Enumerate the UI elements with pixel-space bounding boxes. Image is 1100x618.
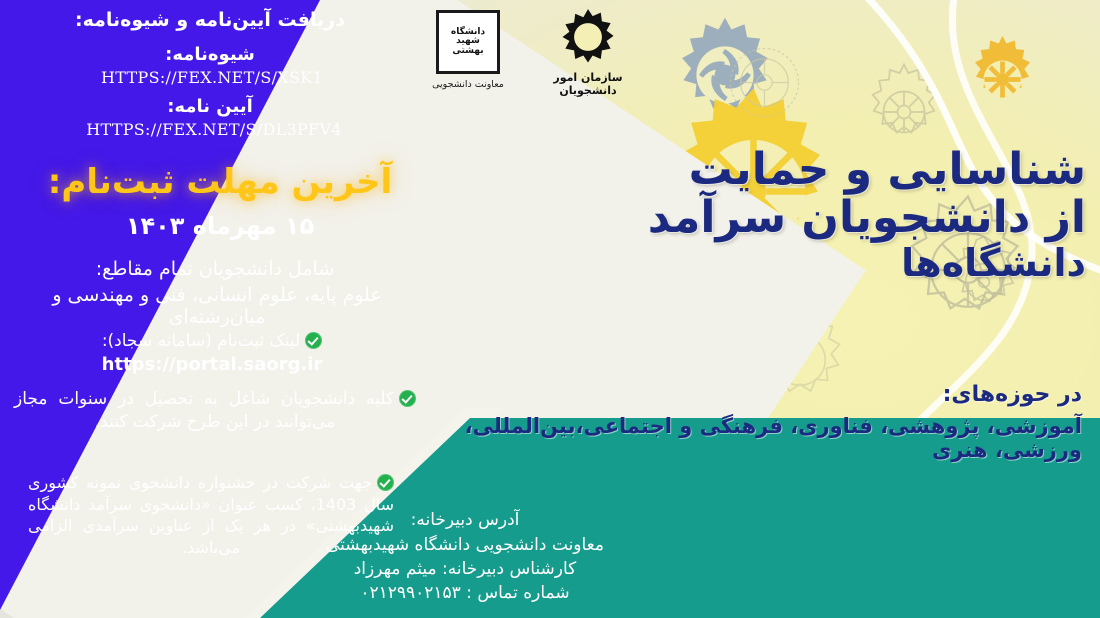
- sbu-logo-mark-text: دانشگاه شهید بهشتی: [443, 17, 493, 67]
- bullet-1-text: لینک ثبت‌نام (سامانه سجاد):: [102, 331, 300, 351]
- sbu-logo: دانشگاه شهید بهشتی معاونت دانشجویی: [432, 10, 504, 90]
- check-circle-icon: [377, 474, 394, 491]
- sbu-logo-mark: دانشگاه شهید بهشتی: [436, 10, 500, 74]
- bullet-registration-link: لینک ثبت‌نام (سامانه سجاد):: [14, 330, 410, 353]
- sao-logo-mark: [557, 8, 619, 66]
- secretariat-line-2: کارشناس دبیرخانه: میثم مهرزاد: [300, 557, 630, 581]
- deadline-date: ۱۵ مهرماه ۱۴۰۳: [20, 212, 420, 240]
- domains-list: آموزشی، پژوهشی، فناوری، فرهنگی و اجتماعی…: [462, 414, 1082, 462]
- sao-caption-line2: دانشجویان: [524, 85, 652, 98]
- domains-label: در حوزه‌های:: [562, 382, 1082, 407]
- check-circle-icon: [305, 332, 322, 349]
- scope-title: شامل دانشجویان تمام مقاطع:: [18, 258, 412, 280]
- sao-caption-line1: سازمان امور: [524, 72, 652, 85]
- registration-portal-link[interactable]: https://portal.saorg.ir: [14, 354, 410, 375]
- sao-logo: سازمان امور دانشجویان: [524, 8, 652, 97]
- title-line-3: دانشگاه‌ها: [566, 243, 1086, 284]
- gear-outline-icon: [722, 40, 807, 125]
- scope-body: علوم پایه، علوم انسانی، فنی و مهندسی و م…: [16, 284, 418, 328]
- secretariat-title: آدرس دبیرخانه:: [300, 508, 630, 532]
- secretariat-block: آدرس دبیرخانه: معاونت دانشجویی دانشگاه ش…: [300, 508, 630, 606]
- secretariat-line-1: معاونت دانشجویی دانشگاه شهیدبهشتی: [300, 533, 630, 557]
- title-line-2: از دانشجویان سرآمد: [566, 194, 1086, 242]
- poster-canvas: دانشگاه شهید بهشتی معاونت دانشجویی سازما…: [0, 0, 1100, 618]
- sao-logo-caption: سازمان امور دانشجویان: [524, 72, 652, 97]
- logo-group: دانشگاه شهید بهشتی معاونت دانشجویی سازما…: [428, 6, 658, 118]
- title-line-1: شناسایی و حمایت: [566, 146, 1086, 194]
- method-url-link[interactable]: HTTPS://FEX.NET/S/XSK1: [14, 68, 410, 87]
- bullet-2-text: کلیه دانشجویان شاغل به تحصیل در سنوات مج…: [14, 389, 394, 432]
- download-heading: دریافت آیین‌نامه و شیوه‌نامه:: [14, 8, 406, 33]
- bullet-eligibility: کلیه دانشجویان شاغل به تحصیل در سنوات مج…: [14, 388, 416, 434]
- secretariat-phone: شماره تماس : ۰۲۱۲۹۹۰۲۱۵۳: [300, 581, 630, 605]
- check-circle-icon: [399, 390, 416, 407]
- regulation-label: آیین نامه:: [14, 96, 406, 117]
- deadline-label: آخرین مهلت ثبت‌نام:: [20, 162, 420, 202]
- regulation-url-link[interactable]: HTTPS://FEX.NET/S/DL3PFV4: [14, 120, 414, 139]
- sbu-logo-caption: معاونت دانشجویی: [432, 79, 504, 90]
- method-label: شیوه‌نامه:: [14, 44, 406, 65]
- poster-main-title: شناسایی و حمایت از دانشجویان سرآمد دانشگ…: [566, 146, 1086, 284]
